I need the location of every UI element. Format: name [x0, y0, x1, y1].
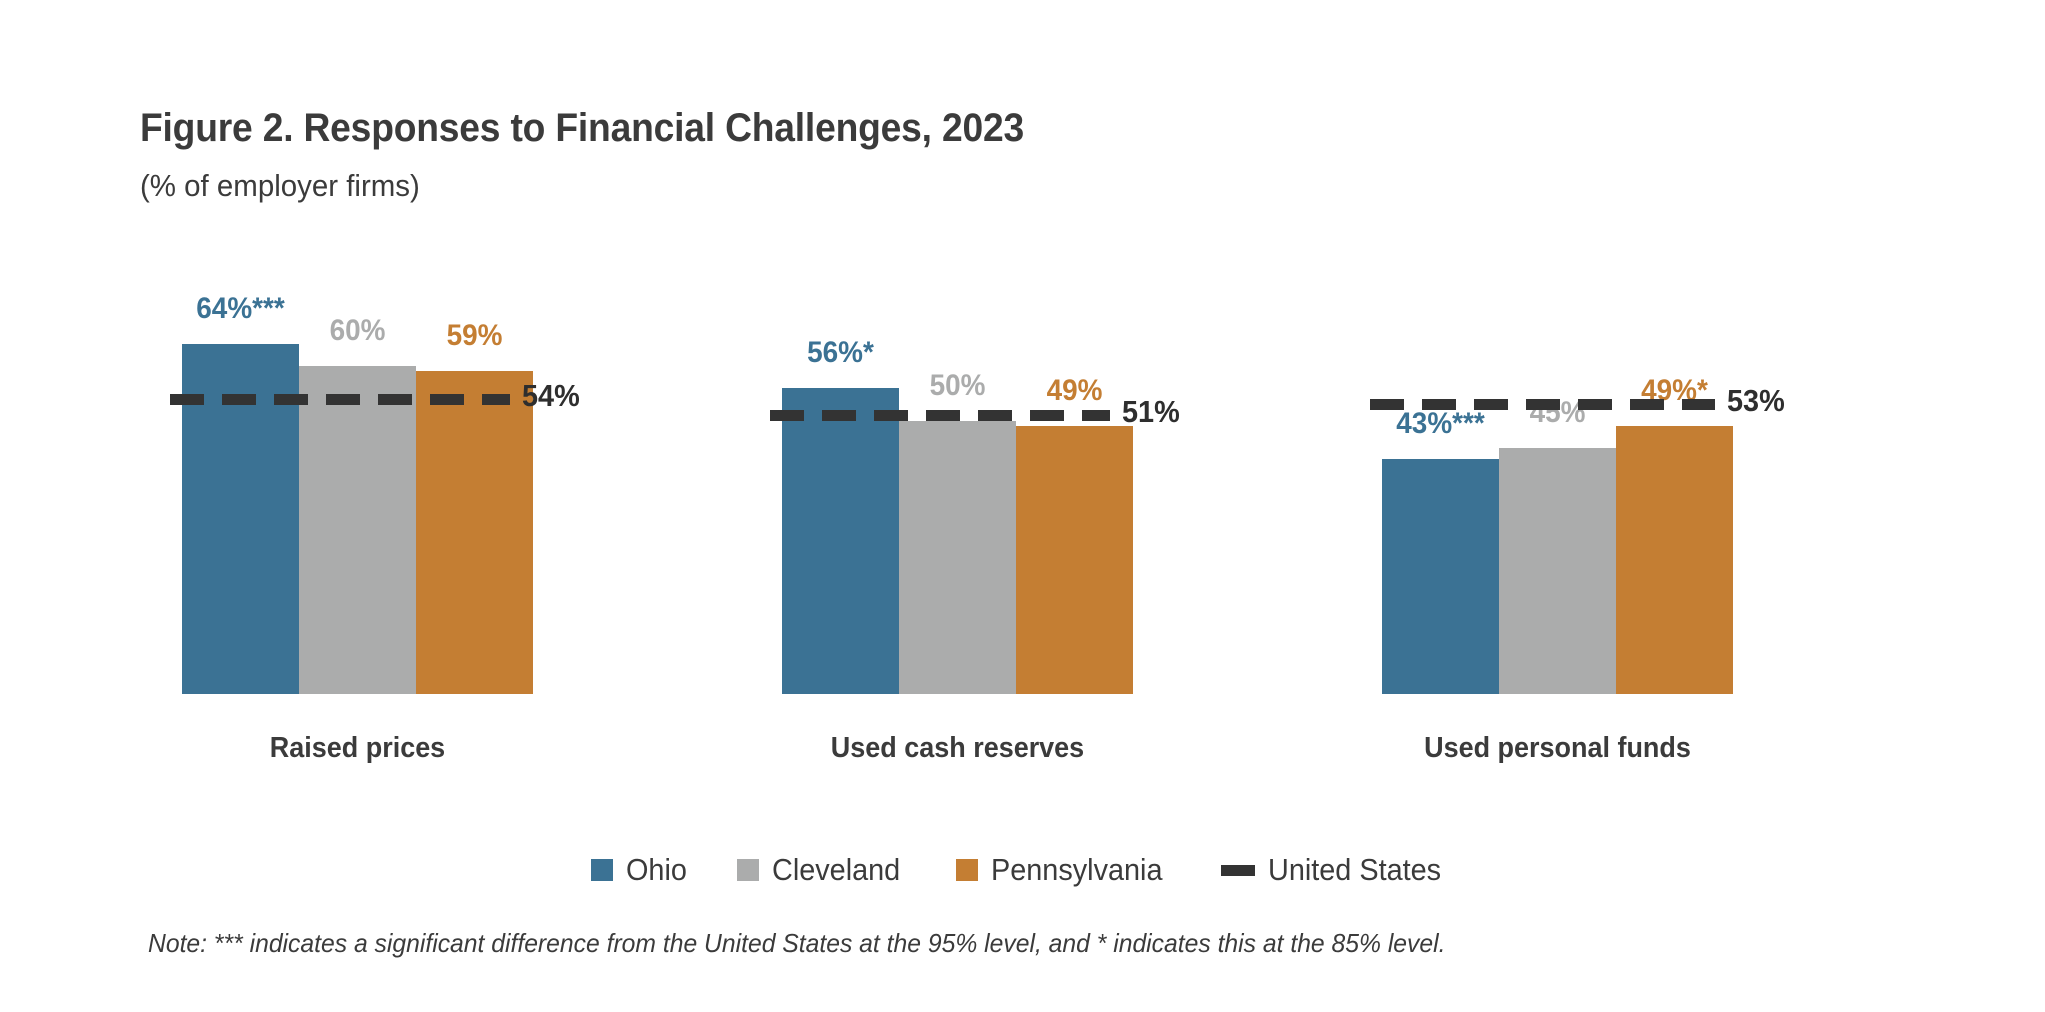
- legend-item-pennsylvania[interactable]: Pennsylvania: [956, 852, 1175, 888]
- category-label-raised-prices: Raised prices: [92, 732, 623, 765]
- us-reference-label-used-cash-reserves: 51%: [1122, 394, 1180, 430]
- bar-used-cash-reserves-ohio: [782, 388, 899, 694]
- legend-square-cleveland: [737, 859, 759, 881]
- legend-label-ohio: Ohio: [626, 852, 687, 888]
- legend-item-cleveland[interactable]: Cleveland: [737, 852, 910, 888]
- bar-used-personal-funds-ohio: [1382, 459, 1499, 694]
- bar-used-cash-reserves-cleveland: [899, 421, 1016, 695]
- us-reference-label-used-personal-funds: 53%: [1727, 383, 1785, 419]
- legend-label-cleveland: Cleveland: [772, 852, 900, 888]
- legend-item-ohio[interactable]: Ohio: [591, 852, 691, 888]
- legend-square-pennsylvania: [956, 859, 978, 881]
- us-reference-label-raised-prices: 54%: [522, 378, 580, 414]
- legend-label-pennsylvania: Pennsylvania: [991, 852, 1162, 888]
- us-reference-line-used-cash-reserves: [770, 410, 1110, 421]
- figure-container: Figure 2. Responses to Financial Challen…: [0, 0, 2045, 1012]
- legend-item-united-states[interactable]: United States: [1221, 852, 1454, 888]
- category-label-used-personal-funds: Used personal funds: [1292, 732, 1823, 765]
- bar-raised-prices-pennsylvania: [416, 371, 533, 694]
- figure-note: Note: *** indicates a significant differ…: [148, 928, 1445, 959]
- us-reference-line-raised-prices: [170, 394, 510, 405]
- legend-label-united-states: United States: [1268, 852, 1441, 888]
- bar-used-personal-funds-cleveland: [1499, 448, 1616, 694]
- bar-raised-prices-cleveland: [299, 366, 416, 694]
- legend-square-ohio: [591, 859, 613, 881]
- bar-used-personal-funds-pennsylvania: [1616, 426, 1733, 694]
- bar-used-cash-reserves-pennsylvania: [1016, 426, 1133, 694]
- value-label-raised-prices-pennsylvania: 59%: [383, 319, 566, 353]
- legend-dash-united-states: [1221, 865, 1255, 876]
- chart-legend: Ohio Cleveland Pennsylvania United State…: [0, 852, 2045, 888]
- category-label-used-cash-reserves: Used cash reserves: [692, 732, 1223, 765]
- chart-plot-area: 64%***60%59%54%Raised prices56%*50%49%51…: [0, 0, 2045, 760]
- value-label-used-cash-reserves-ohio: 56%*: [749, 336, 932, 370]
- us-reference-line-used-personal-funds: [1370, 399, 1715, 410]
